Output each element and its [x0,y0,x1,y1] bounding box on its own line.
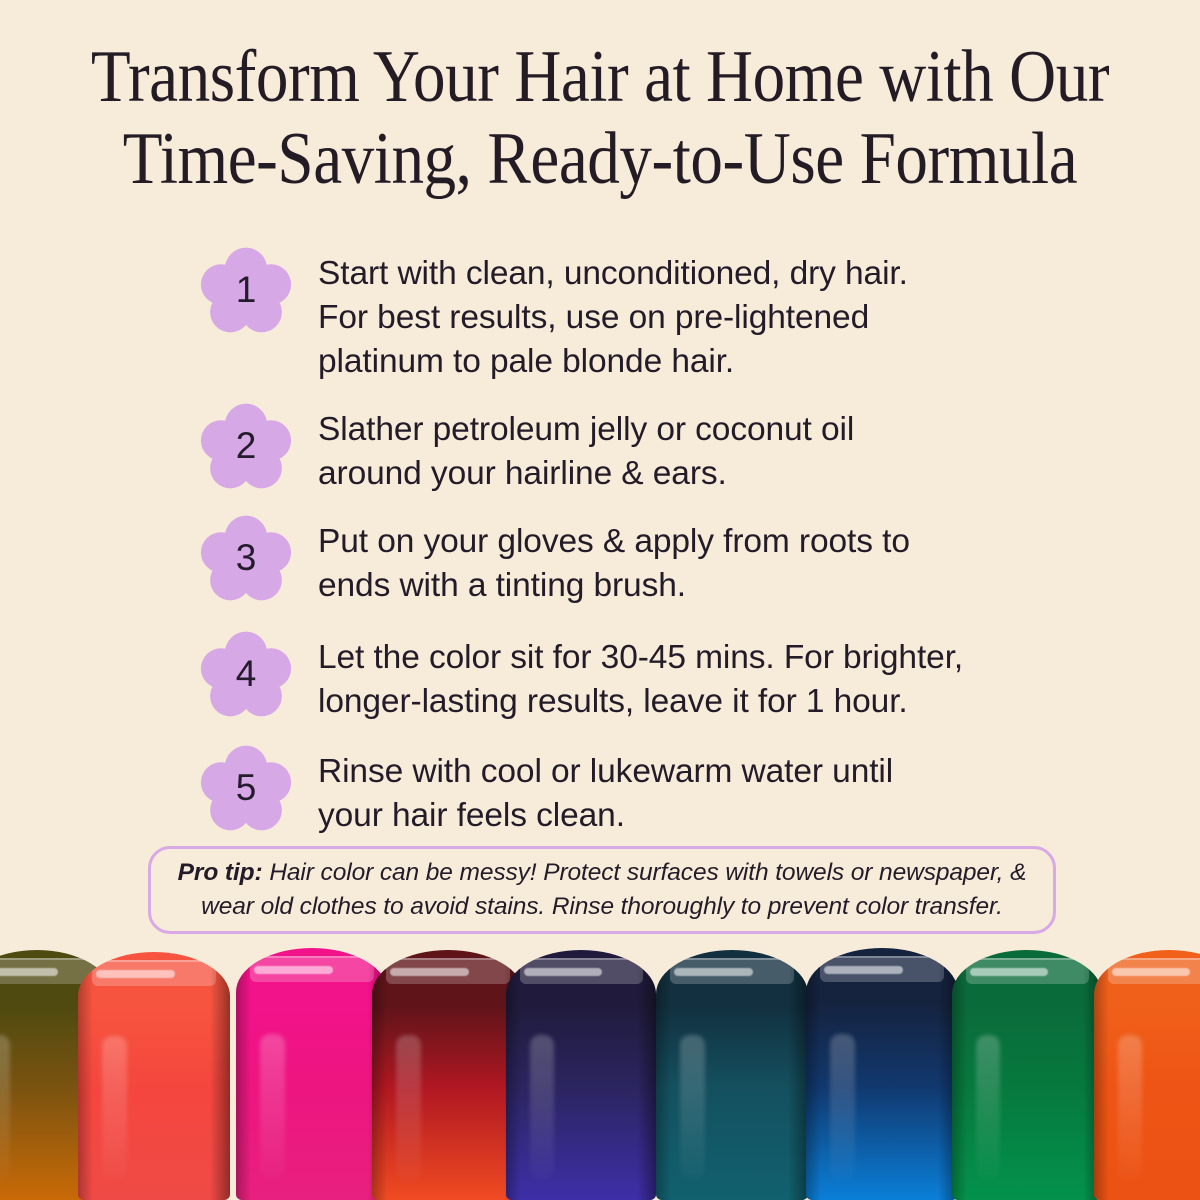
step-badge-5: 5 [200,742,292,834]
pro-tip-text-1: Hair color can be messy! Protect surface… [263,859,1027,886]
step-line: Put on your gloves & apply from roots to [318,520,1018,564]
step-badge-3: 3 [200,512,292,604]
bottle-coral-red [78,952,230,1200]
pro-tip-line-1: Pro tip: Hair color can be messy! Protec… [178,856,1027,890]
page-title: Transform Your Hair at Home with Our Tim… [0,36,1200,200]
step-line: Slather petroleum jelly or coconut oil [318,408,1018,452]
step-badge-1: 1 [200,244,292,336]
bottle-left-edge [952,950,967,1200]
bottle-shine [976,1035,1000,1180]
bottle-left-edge [78,952,93,1200]
step-line: longer-lasting results, leave it for 1 h… [318,680,1018,724]
steps-list: 1 Start with clean, unconditioned, dry h… [0,244,1200,856]
bottle-gloss [1112,968,1190,976]
bottle-gloss [824,966,903,974]
step-line: Let the color sit for 30-45 mins. For br… [318,636,1018,680]
bottle-left-edge [806,948,821,1200]
step-text-1: Start with clean, unconditioned, dry hai… [318,244,1018,384]
step-badge-4: 4 [200,628,292,720]
bottle-shine [102,1036,126,1180]
bottle-shine [830,1034,854,1180]
bottle-right-edge [637,950,657,1200]
title-line-2: Time-Saving, Ready-to-Use Formula [72,118,1128,200]
step-number: 1 [236,271,257,308]
bottle-shine [396,1035,420,1180]
bottle-gloss [970,968,1048,976]
step-line: For best results, use on pre-lightened [318,296,1018,340]
bottle-left-edge [372,950,387,1200]
step-number: 4 [236,655,257,692]
product-bottles-strip [0,944,1200,1200]
step-line: your hair feels clean. [318,794,1018,838]
step-number: 2 [236,427,257,464]
bottle-left-edge [656,950,671,1200]
bottle-shine [530,1035,554,1180]
bottle-dark-red [372,950,524,1200]
pro-tip-line-2: wear old clothes to avoid stains. Rinse … [201,890,1003,924]
list-item: 5 Rinse with cool or lukewarm water unti… [0,742,1200,838]
bottle-gloss [674,968,753,976]
step-badge-2: 2 [200,400,292,492]
bottle-royal-blue [806,948,958,1200]
step-line: Rinse with cool or lukewarm water until [318,750,1018,794]
list-item: 2 Slather petroleum jelly or coconut oil… [0,400,1200,496]
bottle-gloss [0,968,58,976]
step-text-4: Let the color sit for 30-45 mins. For br… [318,628,1018,724]
bottle-left-edge [1094,950,1109,1200]
step-text-2: Slather petroleum jelly or coconut oil a… [318,400,1018,496]
bottle-left-edge [236,948,251,1200]
step-line: ends with a tinting brush. [318,564,1018,608]
step-line: platinum to pale blonde hair. [318,340,1018,384]
step-line: Start with clean, unconditioned, dry hai… [318,252,1018,296]
bottle-shine [0,1035,10,1180]
bottle-shine [260,1034,284,1180]
bottle-hot-pink [236,948,388,1200]
bottle-gloss [390,968,469,976]
bottle-gloss [524,968,602,976]
step-number: 5 [236,769,257,806]
list-item: 1 Start with clean, unconditioned, dry h… [0,244,1200,384]
step-line: around your hairline & ears. [318,452,1018,496]
bottle-emerald-green [952,950,1102,1200]
step-text-5: Rinse with cool or lukewarm water until … [318,742,1018,838]
pro-tip-label: Pro tip: [178,859,263,886]
infographic-page: Transform Your Hair at Home with Our Tim… [0,0,1200,1200]
bottle-gloss [254,966,333,974]
bottle-shine [1118,1035,1142,1180]
bottle-left-edge [506,950,521,1200]
bottle-indigo-violet [506,950,656,1200]
bottle-right-edge [210,952,230,1200]
bottle-shine [680,1035,704,1180]
step-text-3: Put on your gloves & apply from roots to… [318,512,1018,608]
bottle-orange [1094,950,1200,1200]
list-item: 3 Put on your gloves & apply from roots … [0,512,1200,608]
bottle-teal-blue [656,950,808,1200]
pro-tip-callout: Pro tip: Hair color can be messy! Protec… [148,846,1056,934]
list-item: 4 Let the color sit for 30-45 mins. For … [0,628,1200,724]
bottle-gloss [96,970,175,978]
title-line-1: Transform Your Hair at Home with Our [72,36,1128,118]
step-number: 3 [236,539,257,576]
